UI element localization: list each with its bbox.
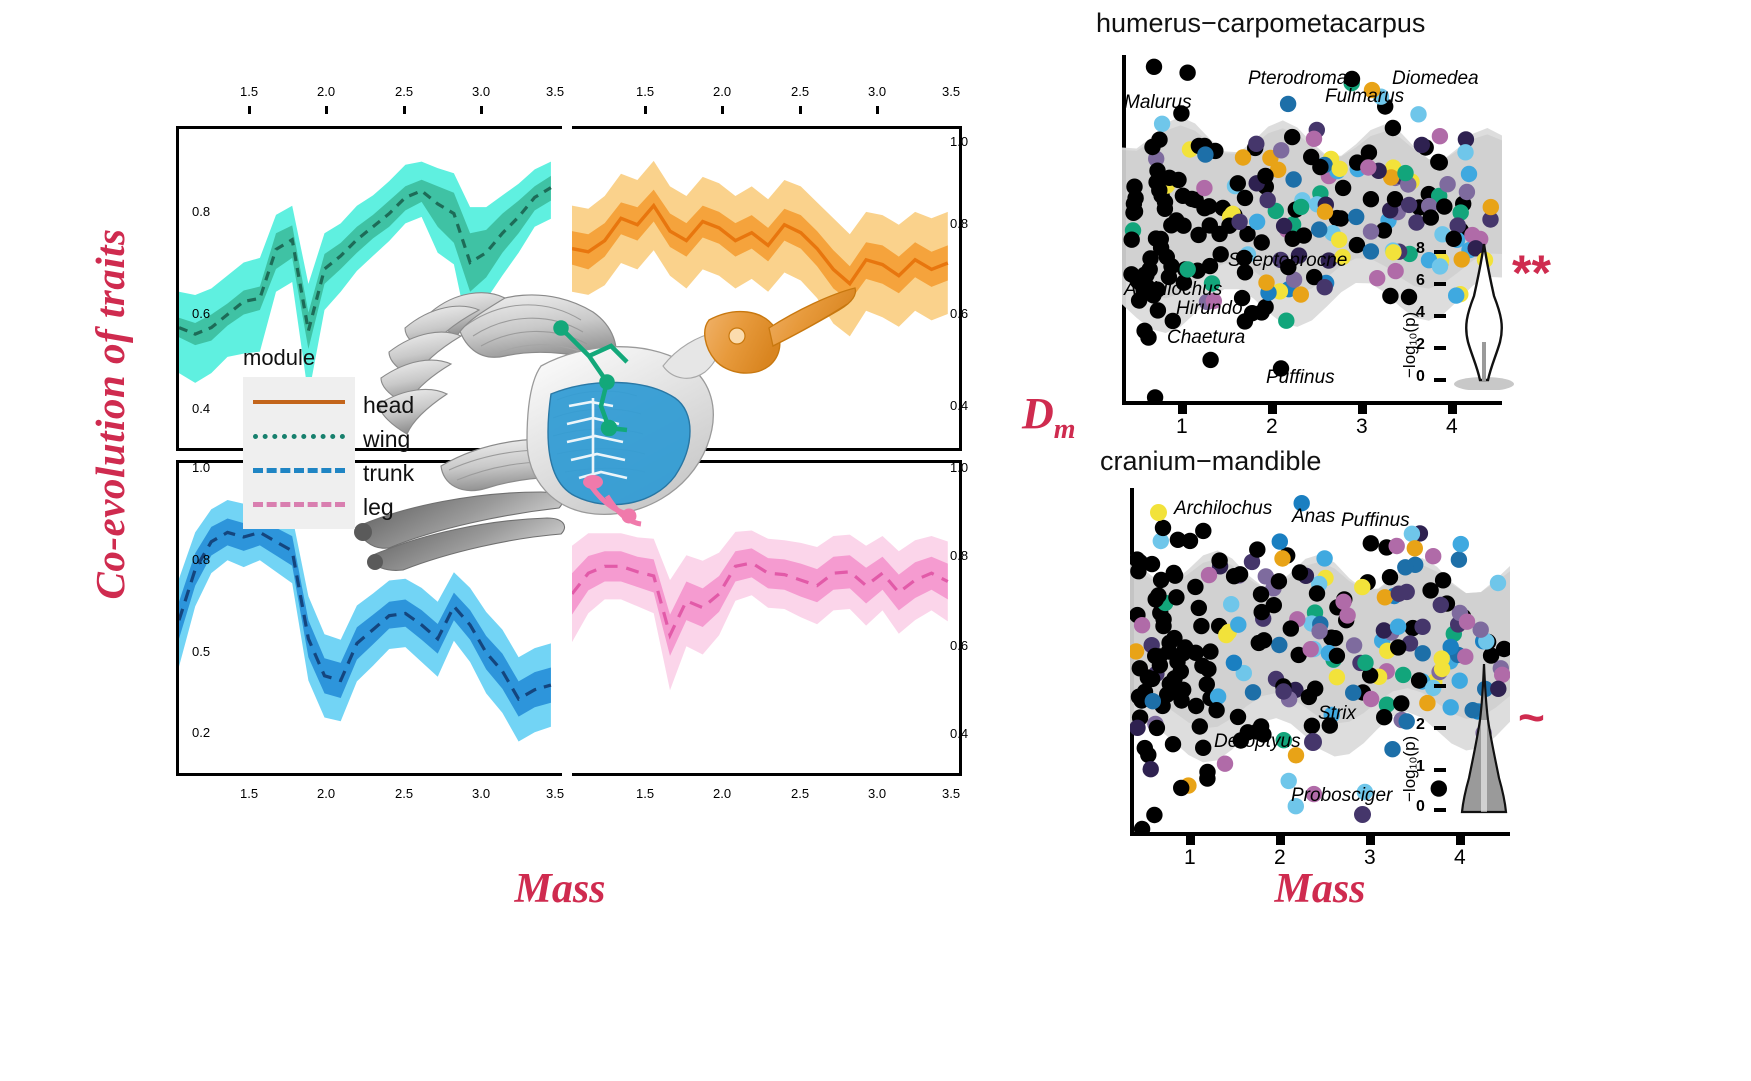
ytick-label: 0.4 bbox=[950, 726, 968, 741]
violin-tick-mark bbox=[1434, 250, 1446, 254]
species-label-streptoprocne: Streptoprocne bbox=[1228, 250, 1347, 272]
module-legend: module head wing trunk leg bbox=[243, 345, 355, 529]
xtick-label: 4 bbox=[1446, 415, 1458, 439]
xtick-label: 1.5 bbox=[636, 786, 654, 801]
xtick-label: 3.0 bbox=[868, 84, 886, 99]
xtick-mark bbox=[1186, 836, 1195, 845]
yaxis-trunk: 1.0 0.8 0.5 0.2 bbox=[192, 460, 226, 780]
species-label-chaetura: Chaetura bbox=[1167, 327, 1245, 349]
yaxis-leg: 1.0 0.8 0.6 0.4 bbox=[950, 460, 990, 780]
xtick-label: 3.0 bbox=[868, 786, 886, 801]
head-module-skull bbox=[705, 288, 856, 373]
xtick-label: 2.0 bbox=[713, 84, 731, 99]
xtick-label: 3.5 bbox=[546, 84, 564, 99]
xtick-mark bbox=[1178, 405, 1187, 414]
xtick-label: 2.0 bbox=[317, 786, 335, 801]
xtick-label: 2.5 bbox=[791, 786, 809, 801]
legend-row-trunk[interactable] bbox=[253, 453, 345, 487]
xtick-mark bbox=[403, 106, 406, 114]
legend-row-head[interactable] bbox=[253, 385, 345, 419]
xtick-label: 2.5 bbox=[791, 84, 809, 99]
xtick-label: 1.5 bbox=[636, 84, 654, 99]
xtick-label: 1 bbox=[1184, 846, 1196, 870]
violin-tick-mark bbox=[1434, 314, 1446, 318]
legend-row-wing[interactable] bbox=[253, 419, 345, 453]
ytick-label: 1.0 bbox=[950, 134, 968, 149]
legend-key-trunk bbox=[253, 468, 345, 473]
ytick-label: 0.6 bbox=[192, 306, 210, 321]
xtick-label: 1.5 bbox=[240, 786, 258, 801]
xtick-label: 3.0 bbox=[472, 786, 490, 801]
y-axis-title-coevolution: Co-evolution of traits bbox=[86, 134, 134, 694]
violin-tick: 6 bbox=[1416, 272, 1425, 290]
legend-dot-archilochus-bottom bbox=[1150, 504, 1167, 521]
species-label-archilochus-bottom: Archilochus bbox=[1174, 498, 1272, 520]
species-label-puffinus: Puffinus bbox=[1266, 367, 1335, 389]
xtick-label: 3.5 bbox=[546, 786, 564, 801]
species-label-probosciger: Probosciger bbox=[1291, 785, 1392, 807]
species-label-malurus: Malurus bbox=[1124, 92, 1192, 114]
point-probosciger bbox=[1354, 806, 1371, 823]
species-label-puffinus-bottom: Puffinus bbox=[1341, 510, 1410, 532]
xtick-label: 2.5 bbox=[395, 84, 413, 99]
violin-tick: 2 bbox=[1416, 336, 1425, 354]
ytick-label: 0.4 bbox=[192, 401, 210, 416]
significance-marker-top: ** bbox=[1512, 244, 1551, 302]
beak bbox=[769, 288, 855, 346]
xtick-mark bbox=[1358, 405, 1367, 414]
yaxis-head: 1.0 0.8 0.6 0.4 bbox=[950, 126, 990, 451]
x-axis-title-mass-left: Mass bbox=[430, 865, 690, 913]
xtick-mark bbox=[480, 106, 483, 114]
dm-subscript: m bbox=[1054, 414, 1076, 445]
significance-marker-bottom: ~ bbox=[1518, 690, 1545, 744]
ytick-label: 0.6 bbox=[950, 638, 968, 653]
violin-tick: 8 bbox=[1416, 240, 1425, 258]
violin-tick-mark bbox=[1434, 726, 1446, 730]
dm-letter: D bbox=[1022, 389, 1054, 438]
xtick-mark bbox=[1448, 405, 1457, 414]
xtick-mark bbox=[248, 106, 251, 114]
scatter-top-title: humerus−carpometacarpus bbox=[1096, 8, 1425, 39]
legend-key-leg bbox=[253, 502, 345, 507]
legend-label-trunk: trunk bbox=[363, 460, 414, 487]
ytick-label: 0.8 bbox=[192, 204, 210, 219]
xtick-label: 1.5 bbox=[240, 84, 258, 99]
legend-key-wing bbox=[253, 434, 345, 439]
ytick-label: 0.8 bbox=[192, 552, 210, 567]
bottom-xaxis-left: 1.5 2.0 2.5 3.0 3.5 bbox=[176, 778, 562, 808]
ytick-label: 0.6 bbox=[950, 306, 968, 321]
point-deroptyus bbox=[1304, 733, 1322, 751]
violin-tick: 4 bbox=[1416, 304, 1425, 322]
violin-tick-mark bbox=[1434, 346, 1446, 350]
ytick-label: 0.5 bbox=[192, 644, 210, 659]
violin-tick-mark bbox=[1434, 808, 1446, 812]
xtick-mark bbox=[1276, 836, 1285, 845]
xtick-label: 3.0 bbox=[472, 84, 490, 99]
xtick-label: 4 bbox=[1454, 846, 1466, 870]
xtick-label: 2 bbox=[1266, 415, 1278, 439]
xtick-label: 2.0 bbox=[713, 786, 731, 801]
violin-tick: 1 bbox=[1416, 758, 1425, 776]
xtick-mark bbox=[876, 106, 879, 114]
species-label-diomedea: Diomedea bbox=[1392, 68, 1479, 90]
violin-shape-bottom bbox=[1450, 660, 1520, 820]
top-xaxis-right: 1.5 2.0 2.5 3.0 3.5 bbox=[572, 84, 962, 126]
violin-inset-bottom: −log₁₀(p) 3 2 1 0 bbox=[1392, 660, 1522, 812]
legend-title: module bbox=[243, 345, 355, 371]
species-label-hirundo: Hirundo bbox=[1176, 298, 1243, 320]
xtick-mark bbox=[799, 106, 802, 114]
ytick-label: 0.8 bbox=[950, 548, 968, 563]
violin-tick: 2 bbox=[1416, 716, 1425, 734]
eye-socket bbox=[729, 328, 745, 344]
xtick-mark bbox=[325, 106, 328, 114]
xtick-mark bbox=[721, 106, 724, 114]
violin-tick: 0 bbox=[1416, 368, 1425, 386]
ytick-label: 1.0 bbox=[192, 460, 210, 475]
xtick-mark bbox=[644, 106, 647, 114]
violin-tick-mark bbox=[1434, 684, 1446, 688]
dm-axis-label: Dm bbox=[1022, 388, 1076, 446]
species-label-deroptyus: Deroptyus bbox=[1214, 731, 1301, 753]
hummingbird-skeleton-illustration bbox=[345, 270, 865, 600]
xtick-label: 2.5 bbox=[395, 786, 413, 801]
species-label-strix: Strix bbox=[1318, 703, 1356, 725]
violin-tick-mark bbox=[1434, 282, 1446, 286]
bottom-xaxis-right: 1.5 2.0 2.5 3.0 3.5 bbox=[572, 778, 962, 808]
ytick-label: 0.4 bbox=[950, 398, 968, 413]
legend-swatch-box bbox=[243, 377, 355, 529]
violin-inset-top: −log₁₀(p) 8 6 4 2 0 bbox=[1392, 238, 1522, 390]
x-axis-title-mass-right: Mass bbox=[1100, 865, 1540, 913]
yaxis-wing: 0.8 0.6 0.4 bbox=[192, 126, 226, 451]
ytick-label: 0.8 bbox=[950, 216, 968, 231]
xtick-mark bbox=[1268, 405, 1277, 414]
xtick-mark bbox=[1456, 836, 1465, 845]
violin-tick: 0 bbox=[1416, 798, 1425, 816]
violin-tick: 3 bbox=[1416, 674, 1425, 692]
legend-label-leg: leg bbox=[363, 494, 394, 521]
violin-shape-top bbox=[1450, 238, 1520, 390]
violin-tick-mark bbox=[1434, 768, 1446, 772]
xtick-label: 3.5 bbox=[942, 84, 960, 99]
xtick-label: 1 bbox=[1176, 415, 1188, 439]
legend-label-head: head bbox=[363, 392, 414, 419]
legend-row-leg[interactable] bbox=[253, 487, 345, 521]
violin-tick-mark bbox=[1434, 378, 1446, 382]
ytick-label: 0.2 bbox=[192, 725, 210, 740]
ytick-label: 1.0 bbox=[950, 460, 968, 475]
xtick-mark bbox=[1366, 836, 1375, 845]
legend-key-head bbox=[253, 400, 345, 404]
xtick-label: 2.0 bbox=[317, 84, 335, 99]
top-xaxis-left: 1.5 2.0 2.5 3.0 3.5 bbox=[176, 84, 562, 126]
xtick-label: 3 bbox=[1356, 415, 1368, 439]
xtick-label: 3 bbox=[1364, 846, 1376, 870]
scatter-bottom-title: cranium−mandible bbox=[1100, 446, 1321, 477]
species-label-anas: Anas bbox=[1292, 506, 1335, 528]
legend-label-wing: wing bbox=[363, 426, 410, 453]
xtick-label: 2 bbox=[1274, 846, 1286, 870]
xtick-label: 3.5 bbox=[942, 786, 960, 801]
